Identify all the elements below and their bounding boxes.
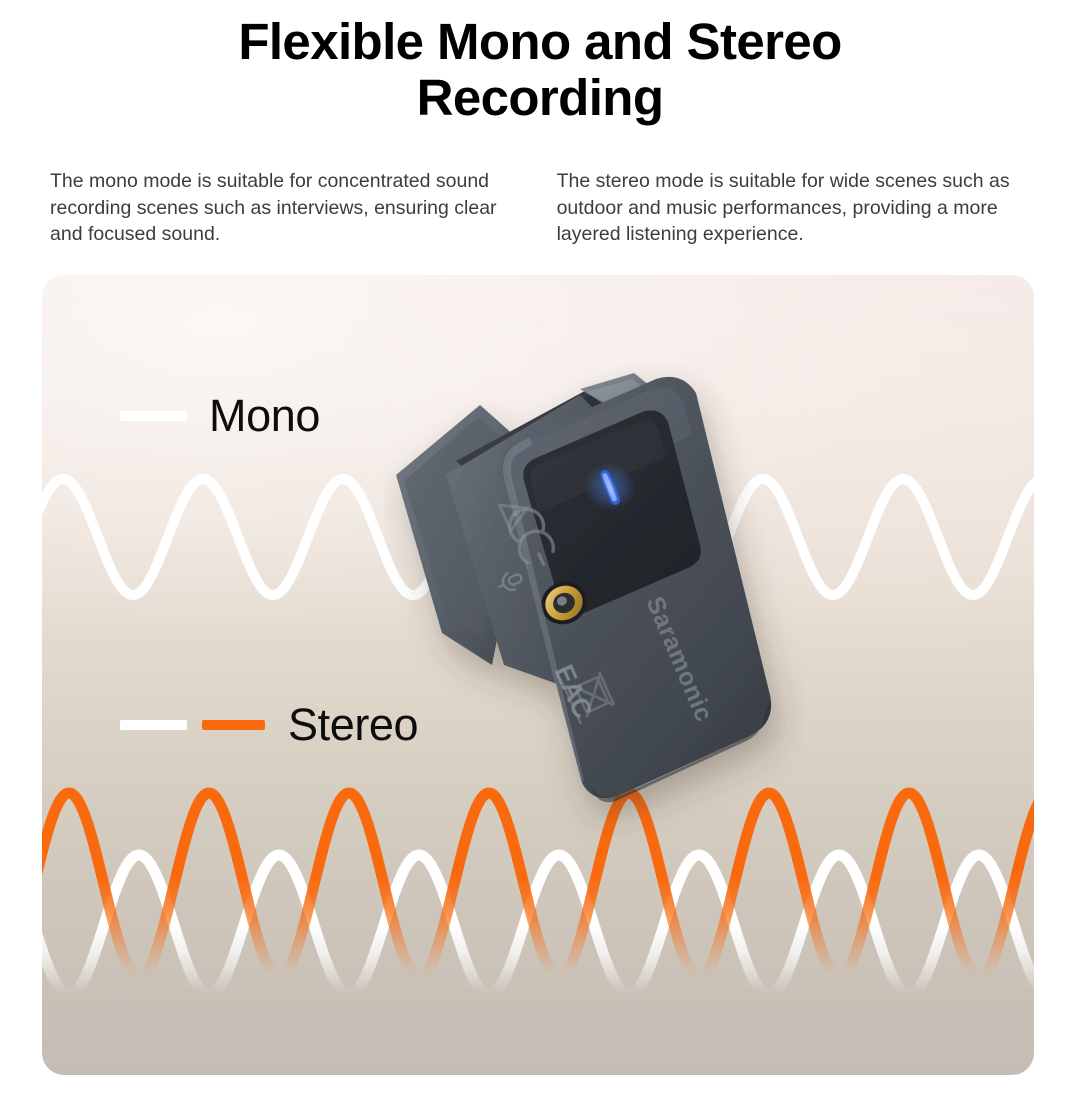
device-body-group: Saramonic: [396, 373, 771, 802]
mono-description: The mono mode is suitable for concentrat…: [50, 168, 522, 248]
feature-image-card: Mono Stereo: [42, 275, 1034, 1075]
page-title-line-2: Recording: [417, 69, 664, 126]
microphone-device-image: Saramonic: [384, 365, 804, 865]
legend-mono: Mono: [120, 393, 320, 438]
page-title-line-1: Flexible Mono and Stereo: [238, 13, 841, 70]
microphone-device-svg: Saramonic: [384, 365, 804, 865]
legend-stereo-label: Stereo: [288, 702, 418, 747]
page-title: Flexible Mono and Stereo Recording: [0, 14, 1080, 126]
legend-stereo: Stereo: [120, 702, 418, 747]
stereo-description: The stereo mode is suitable for wide sce…: [557, 168, 1040, 248]
description-columns: The mono mode is suitable for concentrat…: [50, 168, 1040, 248]
product-feature-page: Flexible Mono and Stereo Recording The m…: [0, 0, 1080, 1108]
legend-mono-label: Mono: [209, 393, 320, 438]
legend-line-white-mono-icon: [120, 411, 187, 421]
legend-line-orange-stereo-icon: [202, 720, 265, 730]
legend-line-white-stereo-icon: [120, 720, 187, 730]
